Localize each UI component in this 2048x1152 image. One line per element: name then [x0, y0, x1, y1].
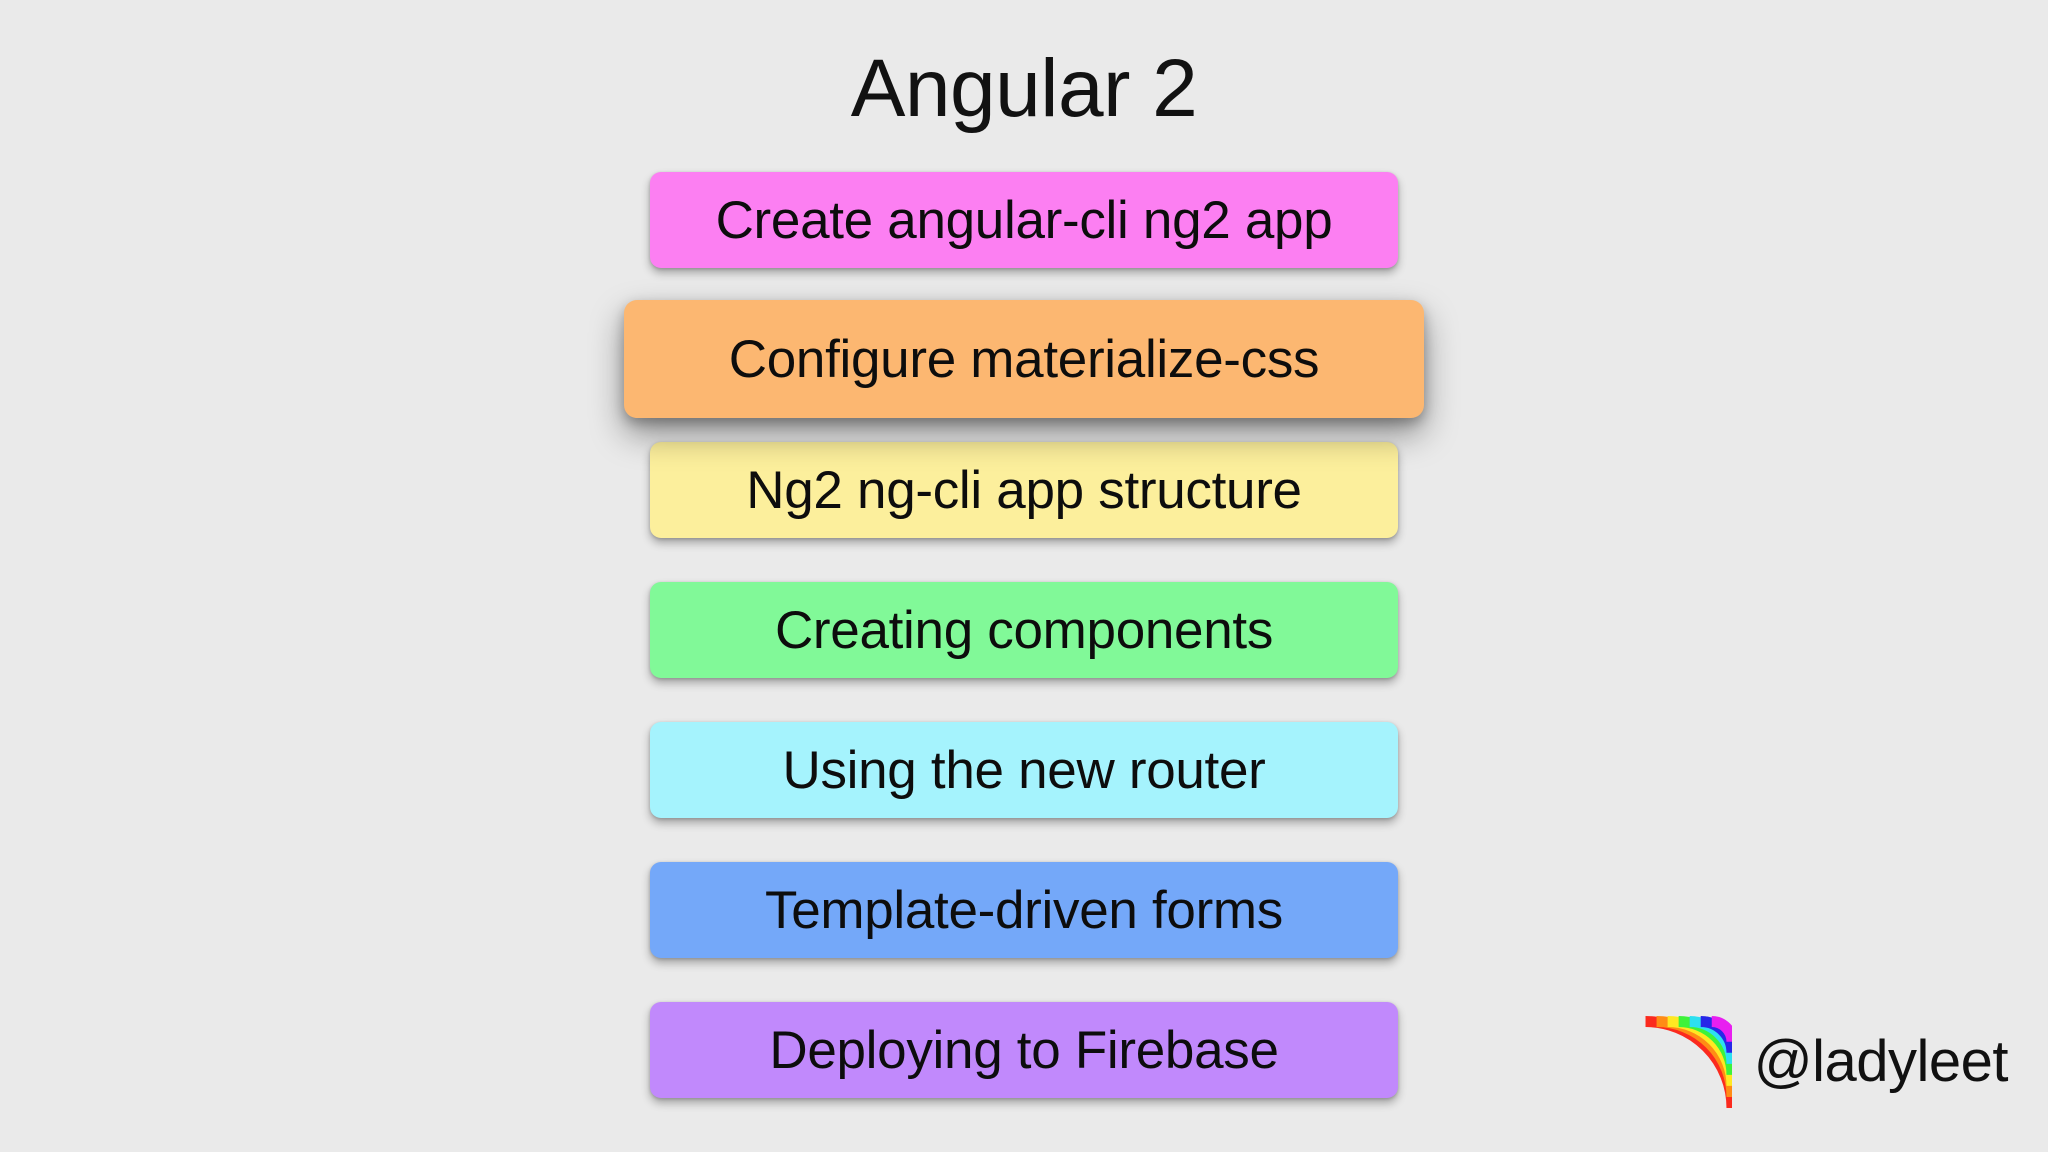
agenda-card-2[interactable]: Configure materialize-css: [624, 300, 1424, 418]
agenda-card-1[interactable]: Create angular-cli ng2 app: [650, 172, 1398, 268]
page-title: Angular 2: [0, 48, 2048, 130]
agenda-card-5[interactable]: Using the new router: [650, 722, 1398, 818]
agenda-card-4-label: Creating components: [775, 600, 1273, 661]
agenda-card-stack: Create angular-cli ng2 app Configure mat…: [0, 172, 2048, 1098]
agenda-card-4[interactable]: Creating components: [650, 582, 1398, 678]
agenda-card-7-label: Deploying to Firebase: [769, 1020, 1278, 1081]
author-handle: @ladyleet: [1640, 1016, 2008, 1108]
agenda-card-3[interactable]: Ng2 ng-cli app structure: [650, 442, 1398, 538]
agenda-card-7[interactable]: Deploying to Firebase: [650, 1002, 1398, 1098]
agenda-card-2-label: Configure materialize-css: [729, 329, 1319, 390]
agenda-card-6[interactable]: Template-driven forms: [650, 862, 1398, 958]
agenda-card-1-label: Create angular-cli ng2 app: [716, 190, 1333, 251]
agenda-card-6-label: Template-driven forms: [765, 880, 1283, 941]
rainbow-icon: [1640, 1016, 1732, 1108]
handle-label: @ladyleet: [1754, 1033, 2008, 1091]
slide-canvas: Angular 2 Create angular-cli ng2 app Con…: [0, 0, 2048, 1152]
agenda-card-5-label: Using the new router: [782, 740, 1265, 801]
agenda-card-3-label: Ng2 ng-cli app structure: [746, 460, 1301, 521]
